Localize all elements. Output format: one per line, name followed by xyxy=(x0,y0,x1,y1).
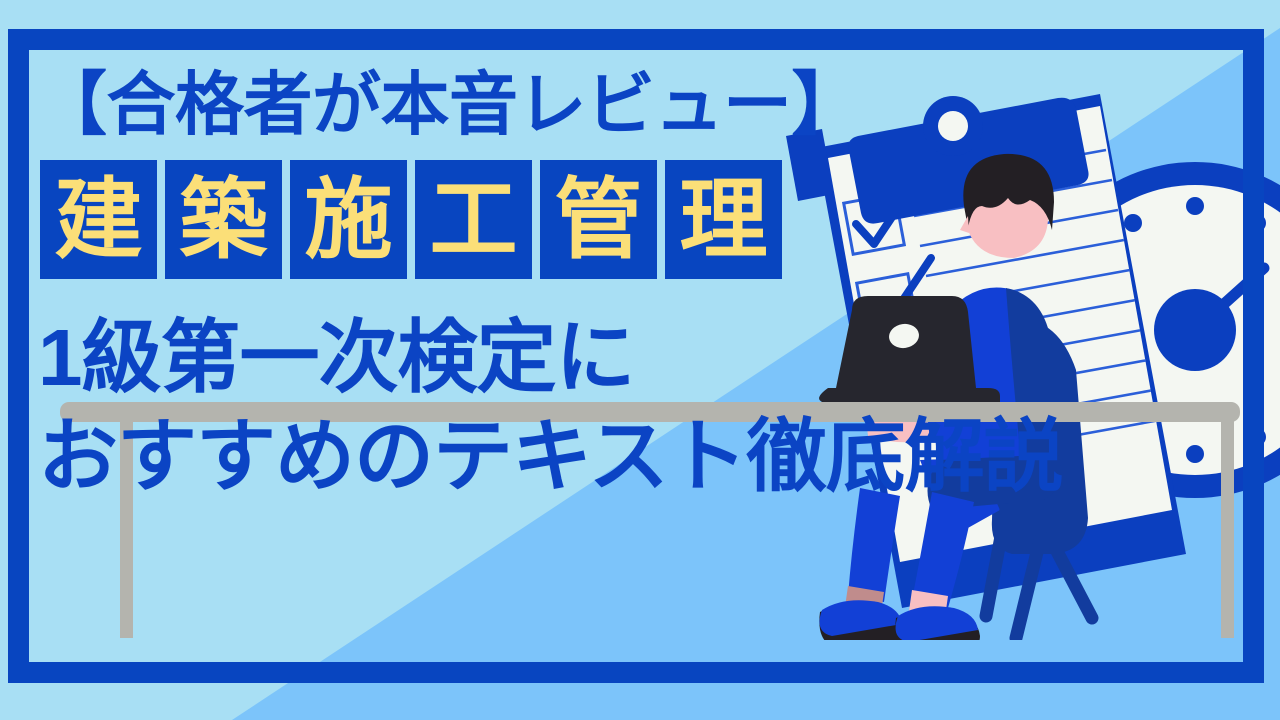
shoe-rear xyxy=(819,600,904,648)
boxed-keyword-row: 建 築 施 工 管 理 xyxy=(40,160,1218,279)
shoe-front xyxy=(895,606,980,654)
boxed-char-6: 理 xyxy=(665,160,782,279)
boxed-char-4: 工 xyxy=(415,160,532,279)
headline-line-1: 1級第一次検定に xyxy=(38,313,1218,403)
headline-block: 【合格者が本音レビュー】 建 築 施 工 管 理 1級第一次検定に おすすめのテ… xyxy=(38,70,1218,502)
headline-line-2: おすすめのテキスト徹底解説 xyxy=(38,412,1218,502)
boxed-char-3: 施 xyxy=(290,160,407,279)
thumbnail-canvas: 【合格者が本音レビュー】 建 築 施 工 管 理 1級第一次検定に おすすめのテ… xyxy=(0,0,1280,720)
boxed-char-1: 建 xyxy=(40,160,157,279)
headline-kicker: 【合格者が本音レビュー】 xyxy=(38,70,1218,140)
boxed-char-5: 管 xyxy=(540,160,657,279)
boxed-char-2: 築 xyxy=(165,160,282,279)
